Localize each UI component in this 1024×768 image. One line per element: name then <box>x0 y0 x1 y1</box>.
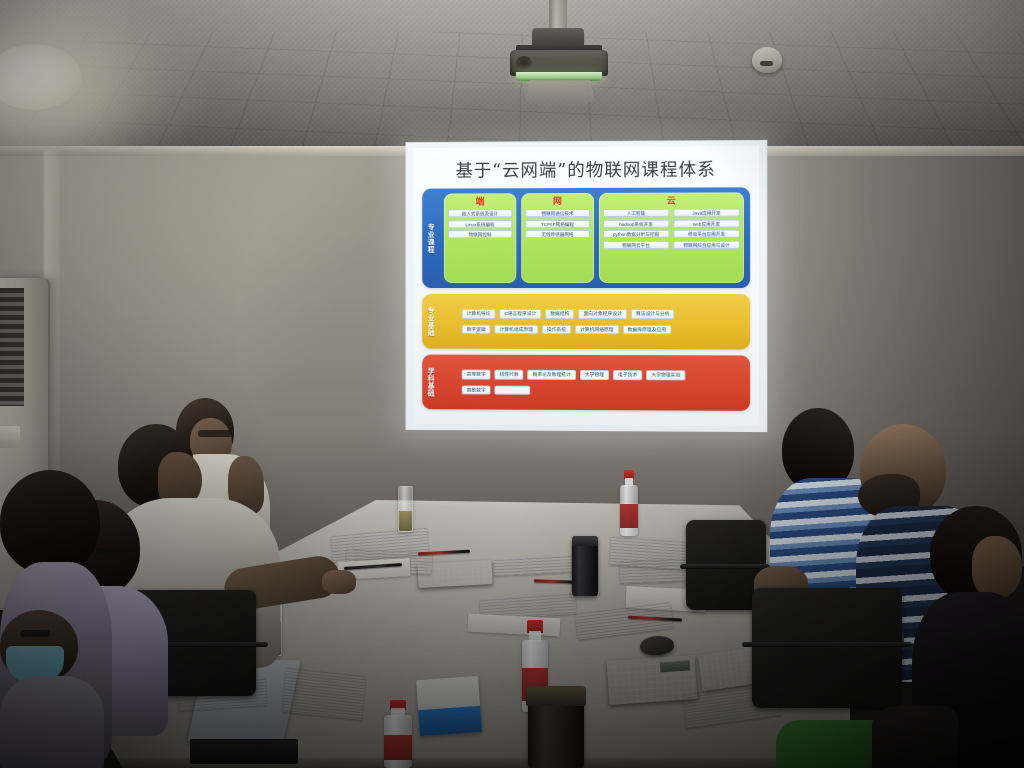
pillar-head-wang: 网 <box>525 196 590 209</box>
pillar-columns-duan: 嵌入式系统及设计 Linux系统编程 物联网控制 <box>448 209 512 279</box>
band-label-major-basics: 专业基础 <box>422 294 438 349</box>
thermos-lid <box>572 536 598 546</box>
band-body-subject-foundation: 高等数学 线性代数 概率论及数理统计 大学物理 电子技术 大学物理实验 离散数学 <box>438 355 750 411</box>
course-chip: 数字逻辑 <box>462 324 491 334</box>
chair-arm <box>742 642 912 647</box>
water-bottle-far <box>620 470 638 536</box>
tissue-box <box>416 676 482 736</box>
course-item: 人工智能 <box>603 209 669 217</box>
jar-lid-ring <box>526 686 585 706</box>
projector-light-cone <box>524 80 596 106</box>
pillar-head-yun: 云 <box>603 195 740 209</box>
slide-content: 基于“云网端”的物联网课程体系 专业课程 端 嵌入式系统及设计 Linux系统编… <box>413 146 759 426</box>
course-chip: 数据结构 <box>545 309 574 319</box>
course-chip: 概率论及数理统计 <box>528 370 576 380</box>
projector-vent-icon <box>516 56 532 70</box>
ceiling-projector <box>498 0 618 100</box>
course-chip: 操作系统 <box>542 324 571 334</box>
conference-room-photo: 基于“云网端”的物联网课程体系 专业课程 端 嵌入式系统及设计 Linux系统编… <box>0 0 1024 768</box>
course-chip: 数据库原理及应用 <box>623 325 672 335</box>
pillar-yun: 云 人工智能 hadoop系统开发 python数据分析与挖掘 物联网云平台 J… <box>599 192 744 283</box>
chair-arm <box>680 564 770 569</box>
projector-lens-glow <box>516 72 602 81</box>
slide-title: 基于“云网端”的物联网课程体系 <box>422 152 750 189</box>
pillar-columns-wang: 物联网通信技术 TCP/IP网络编程 无线传感器网络 <box>525 209 590 279</box>
course-item: 嵌入式系统及设计 <box>448 209 512 217</box>
course-item: 物联网云平台 <box>603 240 669 248</box>
smoke-detector-icon <box>752 47 782 73</box>
course-item: 物联网综合应用与设计 <box>673 240 740 248</box>
foundation-row-2: 离散数学 <box>462 385 744 396</box>
air-conditioner-grille-icon <box>0 288 24 406</box>
course-item: hadoop系统开发 <box>603 219 669 227</box>
course-chip: 计算机导论 <box>462 309 496 318</box>
chair-back <box>752 588 902 708</box>
pillar-head-duan: 端 <box>448 196 512 209</box>
foundation-row-1: 高等数学 线性代数 概率论及数理统计 大学物理 电子技术 大学物理实验 <box>462 370 744 381</box>
pillar-column: 物联网通信技术 TCP/IP网络编程 无线传感器网络 <box>525 209 590 279</box>
slide-band-major-basics: 专业基础 计算机导论 C语言程序设计 数据结构 面向对象程序设计 算法设计与分析… <box>422 294 750 349</box>
tissue-box-blue-band <box>418 706 482 736</box>
band-label-major-courses: 专业课程 <box>422 189 438 288</box>
course-chip: 算法设计与分析 <box>631 309 675 319</box>
course-chip: C语言程序设计 <box>499 309 541 319</box>
hand <box>322 570 356 594</box>
course-item: TCP/IP网络编程 <box>525 219 590 227</box>
band-body-major-courses: 端 嵌入式系统及设计 Linux系统编程 物联网控制 网 <box>438 187 750 288</box>
course-chip: 计算机组成原理 <box>495 324 538 334</box>
glass-tea-cup <box>398 486 413 532</box>
air-conditioner-badge <box>0 426 20 448</box>
pillar-columns-yun: 人工智能 hadoop系统开发 python数据分析与挖掘 物联网云平台 Jav… <box>603 208 740 279</box>
laptop-base <box>190 739 298 764</box>
smoke-detector-led <box>760 61 773 66</box>
course-chip: 面向对象程序设计 <box>578 309 626 319</box>
keyboard-left[interactable] <box>417 560 492 588</box>
course-chip-blank <box>495 385 531 395</box>
face <box>972 536 1022 598</box>
course-item: 移动平台应用开发 <box>673 230 740 238</box>
pillar-wang: 网 物联网通信技术 TCP/IP网络编程 无线传感器网络 <box>521 193 594 283</box>
water-bottle-foreground <box>384 700 412 768</box>
tea-liquid <box>399 511 412 531</box>
band-label-subject-foundation: 学科基础 <box>422 355 438 410</box>
paper-stack <box>282 668 366 720</box>
pillar-duan: 端 嵌入式系统及设计 Linux系统编程 物联网控制 <box>444 193 516 283</box>
torso-foreground <box>872 706 958 768</box>
course-chip: 计算机网络原理 <box>575 324 619 334</box>
bottle-label <box>620 504 638 528</box>
basics-row-2: 数字逻辑 计算机组成原理 操作系统 计算机网络原理 数据库原理及应用 <box>462 324 744 334</box>
dark-jar <box>528 686 584 768</box>
chair <box>752 588 902 708</box>
course-item: Linux系统编程 <box>448 220 512 228</box>
basics-row-1: 计算机导论 C语言程序设计 数据结构 面向对象程序设计 算法设计与分析 <box>462 309 744 319</box>
course-chip: 大学物理实验 <box>646 370 685 380</box>
foundation-chip-groups: 高等数学 线性代数 概率论及数理统计 大学物理 电子技术 大学物理实验 离散数学 <box>444 360 744 406</box>
course-item: web应用开发 <box>673 219 740 227</box>
course-item: 无线传感器网络 <box>525 230 590 238</box>
slide-band-major-courses: 专业课程 端 嵌入式系统及设计 Linux系统编程 物联网控制 <box>422 187 750 288</box>
course-chip: 离散数学 <box>462 385 491 395</box>
black-thermos <box>572 536 598 596</box>
course-chip: 大学物理 <box>580 370 609 380</box>
calculator-display <box>660 661 691 673</box>
course-item: 物联网通信技术 <box>525 209 590 217</box>
pillar-column: 嵌入式系统及设计 Linux系统编程 物联网控制 <box>448 209 512 279</box>
course-item: Java应用开发 <box>673 208 740 216</box>
course-item: python数据分析与挖掘 <box>603 230 669 238</box>
pillar-column: Java应用开发 web应用开发 移动平台应用开发 物联网综合应用与设计 <box>673 208 740 278</box>
projection-screen: 基于“云网端”的物联网课程体系 专业课程 端 嵌入式系统及设计 Linux系统编… <box>406 140 768 432</box>
person-mask-child <box>0 610 110 768</box>
basics-chip-groups: 计算机导论 C语言程序设计 数据结构 面向对象程序设计 算法设计与分析 数字逻辑… <box>444 299 744 344</box>
slide-band-subject-foundation: 学科基础 高等数学 线性代数 概率论及数理统计 大学物理 电子技术 大学物理实验… <box>422 355 750 411</box>
course-chip: 高等数学 <box>462 370 491 380</box>
course-chip: 电子技术 <box>613 370 642 380</box>
head <box>0 470 100 574</box>
course-item: 物联网控制 <box>448 230 512 238</box>
smoke-detector-body <box>752 47 782 73</box>
table-edge <box>60 758 850 768</box>
bottle-label <box>384 735 412 759</box>
torso <box>0 676 104 768</box>
glasses-icon <box>20 630 50 637</box>
band-body-major-basics: 计算机导论 C语言程序设计 数据结构 面向对象程序设计 算法设计与分析 数字逻辑… <box>438 294 750 349</box>
pillar-column: 人工智能 hadoop系统开发 python数据分析与挖掘 物联网云平台 <box>603 209 669 279</box>
course-chip: 线性代数 <box>495 370 524 380</box>
person-green-sleeve-foreground <box>776 706 956 768</box>
